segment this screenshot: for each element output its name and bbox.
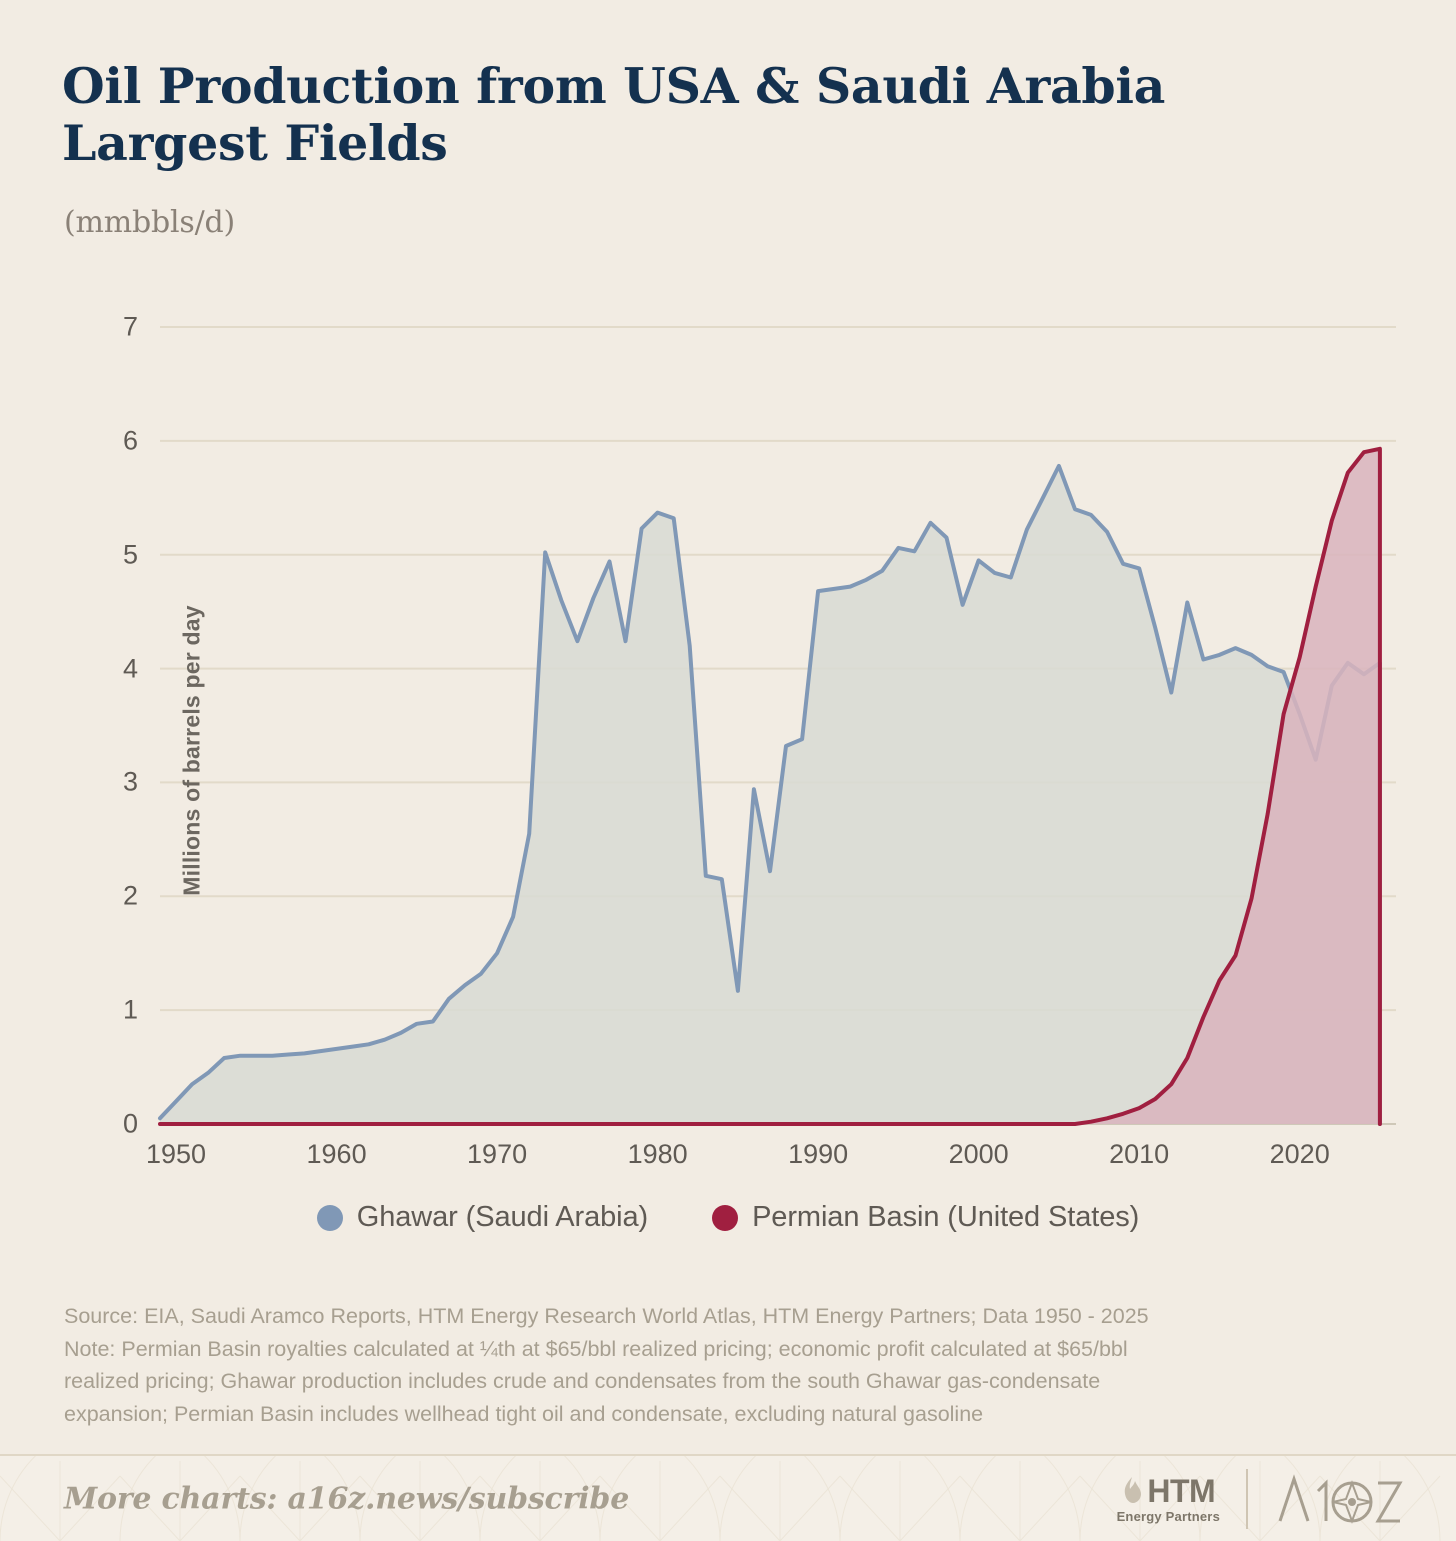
footer-logos: HTM Energy Partners bbox=[1117, 1469, 1404, 1529]
chart-plot-area: Millions of barrels per day 01234567 195… bbox=[0, 0, 1456, 1200]
page-footer: More charts: a16z.news/subscribe HTM Ene… bbox=[0, 1454, 1456, 1541]
legend-color-dot-icon bbox=[712, 1205, 738, 1231]
x-axis-tick-label: 1990 bbox=[788, 1139, 848, 1170]
x-axis-tick-label: 1960 bbox=[307, 1139, 367, 1170]
y-axis-tick-label: 2 bbox=[92, 881, 138, 912]
chart-legend: Ghawar (Saudi Arabia)Permian Basin (Unit… bbox=[0, 1201, 1456, 1234]
legend-item[interactable]: Ghawar (Saudi Arabia) bbox=[317, 1201, 648, 1234]
x-axis-tick-label: 1980 bbox=[628, 1139, 688, 1170]
y-axis-ticks: 01234567 bbox=[92, 0, 138, 1200]
source-text: Source: EIA, Saudi Aramco Reports, HTM E… bbox=[64, 1300, 1354, 1333]
htm-energy-partners-logo: HTM Energy Partners bbox=[1117, 1475, 1220, 1523]
series-area bbox=[160, 466, 1380, 1124]
y-axis-tick-label: 0 bbox=[92, 1109, 138, 1140]
legend-item-label: Permian Basin (United States) bbox=[752, 1201, 1139, 1234]
y-axis-tick-label: 4 bbox=[92, 653, 138, 684]
subscribe-cta[interactable]: More charts: a16z.news/subscribe bbox=[64, 1481, 629, 1516]
y-axis-tick-label: 1 bbox=[92, 995, 138, 1026]
y-axis-tick-label: 7 bbox=[92, 312, 138, 343]
legend-color-dot-icon bbox=[317, 1205, 343, 1231]
x-axis-tick-label: 1950 bbox=[146, 1139, 206, 1170]
htm-logo-text: HTM bbox=[1147, 1475, 1215, 1507]
a16z-logo bbox=[1274, 1471, 1404, 1527]
chart-page: Oil Production from USA & Saudi Arabia L… bbox=[0, 0, 1456, 1541]
chart-footnotes: Source: EIA, Saudi Aramco Reports, HTM E… bbox=[64, 1300, 1354, 1431]
htm-flame-icon bbox=[1121, 1475, 1145, 1507]
y-axis-tick-label: 3 bbox=[92, 767, 138, 798]
chart-series-layer bbox=[160, 449, 1380, 1124]
legend-item[interactable]: Permian Basin (United States) bbox=[712, 1201, 1139, 1234]
htm-logo-tagline: Energy Partners bbox=[1117, 1510, 1220, 1523]
x-axis-tick-label: 2000 bbox=[949, 1139, 1009, 1170]
chart-svg bbox=[0, 0, 1456, 1200]
x-axis-tick-label: 1970 bbox=[467, 1139, 527, 1170]
y-axis-tick-label: 6 bbox=[92, 425, 138, 456]
x-axis-tick-label: 2010 bbox=[1109, 1139, 1169, 1170]
x-axis-tick-label: 2020 bbox=[1270, 1139, 1330, 1170]
y-axis-title: Millions of barrels per day bbox=[179, 541, 206, 961]
y-axis-tick-label: 5 bbox=[92, 539, 138, 570]
legend-item-label: Ghawar (Saudi Arabia) bbox=[357, 1201, 648, 1234]
logo-divider bbox=[1246, 1469, 1248, 1529]
a16z-logo-mark bbox=[1274, 1471, 1404, 1527]
note-text: Note: Permian Basin royalties calculated… bbox=[64, 1333, 1354, 1431]
